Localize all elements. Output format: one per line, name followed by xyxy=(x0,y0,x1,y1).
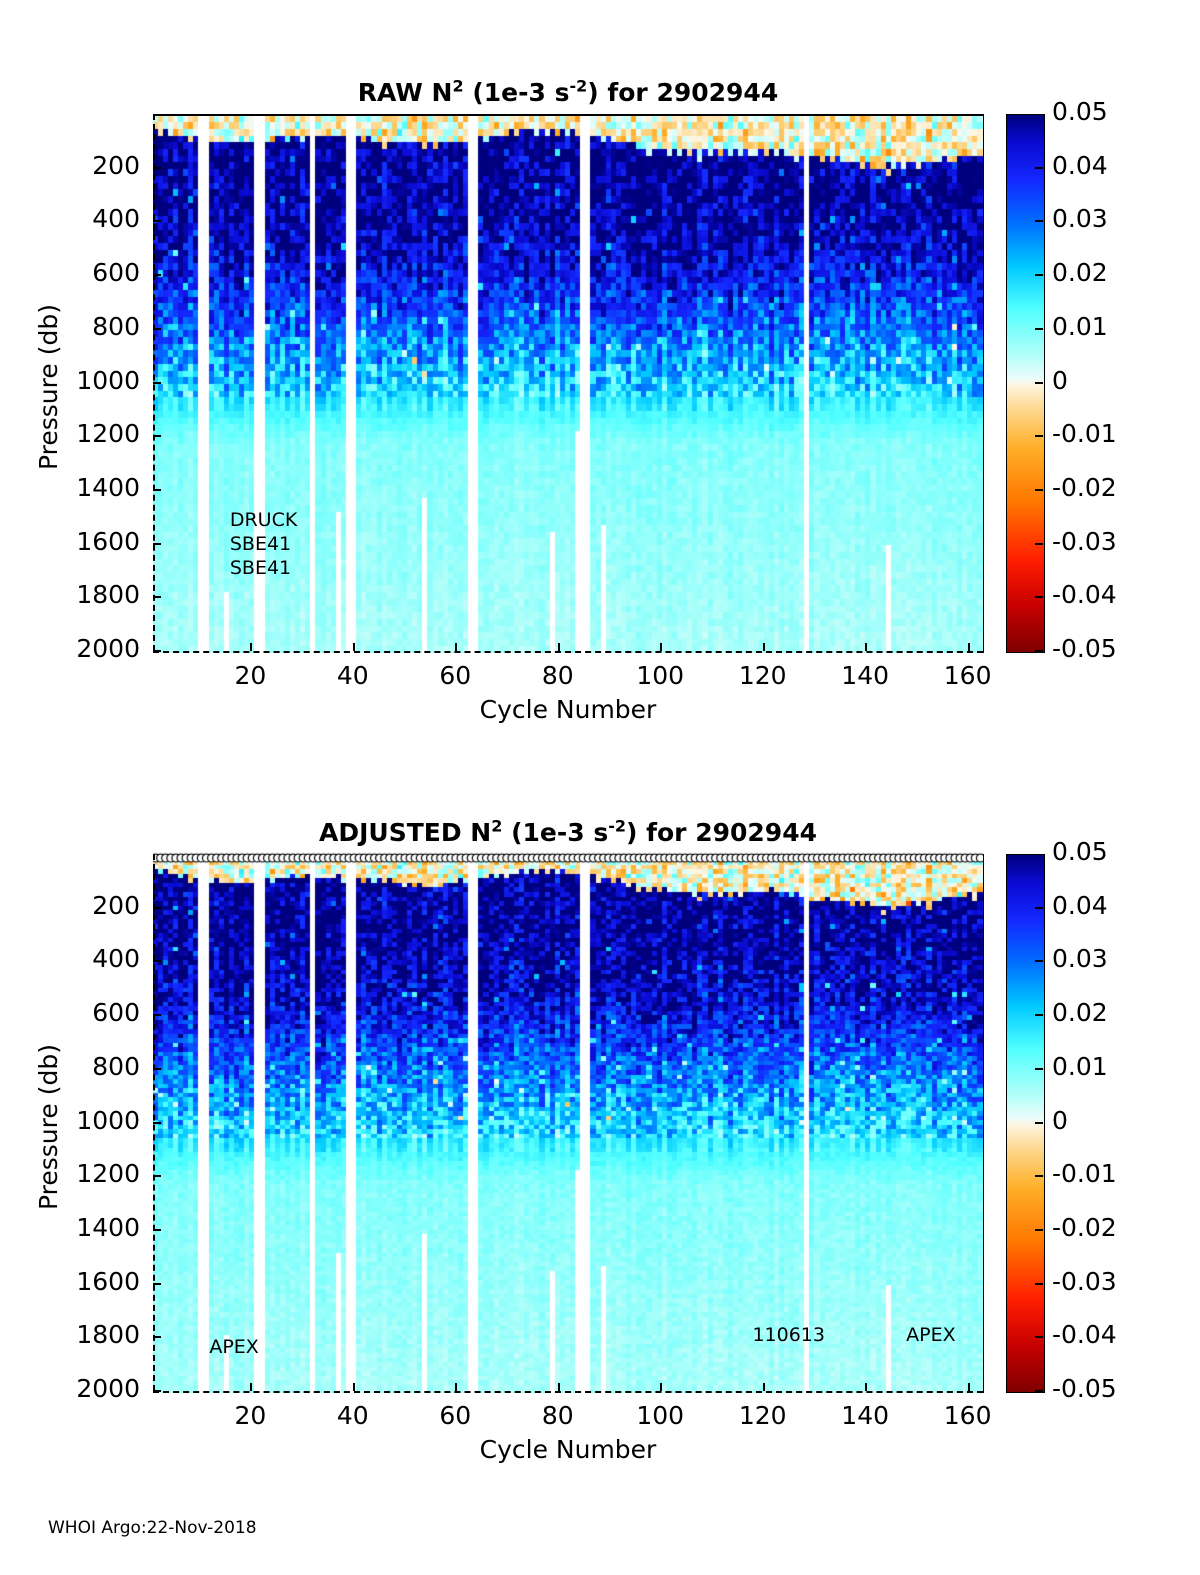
x-tick-label: 120 xyxy=(718,661,808,690)
y-tick-mark xyxy=(153,960,161,962)
y-tick-mark xyxy=(153,167,161,169)
y-tick-label: 200 xyxy=(50,891,140,920)
sbe41-label-1: SBE41 xyxy=(230,533,291,555)
y-tick-mark xyxy=(153,328,161,330)
x-tick-label: 160 xyxy=(923,1401,1013,1430)
x-tick-mark xyxy=(763,643,765,651)
x-tick-mark xyxy=(250,1383,252,1391)
adjusted-title-suffix: ) for 2902944 xyxy=(626,818,817,847)
raw-colorbar[interactable] xyxy=(1006,114,1045,653)
colorbar-tick-mark xyxy=(1035,1229,1043,1231)
y-tick-label: 1400 xyxy=(50,1213,140,1242)
x-tick-label: 100 xyxy=(615,1401,705,1430)
colorbar-tick-label: 0 xyxy=(1052,366,1068,395)
colorbar-tick-label: -0.01 xyxy=(1052,419,1117,448)
raw-x-axis-label: Cycle Number xyxy=(153,695,983,724)
y-tick-label: 1800 xyxy=(50,1320,140,1349)
druck-label: DRUCK xyxy=(230,509,297,531)
x-tick-label: 160 xyxy=(923,661,1013,690)
colorbar-tick-label: 0.01 xyxy=(1052,1052,1108,1081)
adjusted-heatmap-axes[interactable] xyxy=(153,854,984,1393)
colorbar-tick-mark xyxy=(1035,1014,1043,1016)
adjusted-title-sup2: -2 xyxy=(608,817,626,836)
adjusted-plot-title: ADJUSTED N2 (1e-3 s-2) for 2902944 xyxy=(153,818,983,847)
colorbar-tick-mark xyxy=(1035,1175,1043,1177)
y-tick-mark xyxy=(153,489,161,491)
raw-title-mid: (1e-3 s xyxy=(464,78,570,107)
panel-adjusted: ADJUSTED N2 (1e-3 s-2) for 2902944 Press… xyxy=(0,740,1200,1520)
y-tick-mark xyxy=(153,1229,161,1231)
raw-plot-title: RAW N2 (1e-3 s-2) for 2902944 xyxy=(153,78,983,107)
y-tick-mark xyxy=(153,435,161,437)
y-tick-label: 800 xyxy=(50,1052,140,1081)
colorbar-tick-label: 0.02 xyxy=(1052,998,1108,1027)
adjusted-axis-bottom xyxy=(153,1391,983,1393)
x-tick-label: 120 xyxy=(718,1401,808,1430)
y-tick-mark xyxy=(153,650,161,652)
colorbar-tick-mark xyxy=(1035,1122,1043,1124)
y-tick-label: 1200 xyxy=(50,1159,140,1188)
x-tick-mark xyxy=(558,643,560,651)
colorbar-tick-mark xyxy=(1035,1283,1043,1285)
colorbar-tick-label: -0.04 xyxy=(1052,1320,1117,1349)
panel-raw: RAW N2 (1e-3 s-2) for 2902944 Pressure (… xyxy=(0,0,1200,780)
colorbar-tick-label: -0.03 xyxy=(1052,1267,1117,1296)
y-tick-mark xyxy=(153,1014,161,1016)
y-tick-label: 2000 xyxy=(50,634,140,663)
x-tick-label: 40 xyxy=(308,661,398,690)
y-tick-label: 200 xyxy=(50,151,140,180)
x-tick-label: 140 xyxy=(820,1401,910,1430)
y-tick-mark xyxy=(153,1068,161,1070)
y-tick-label: 600 xyxy=(50,258,140,287)
raw-axis-bottom xyxy=(153,651,983,653)
adjusted-title-mid: (1e-3 s xyxy=(502,818,608,847)
colorbar-tick-label: 0.05 xyxy=(1052,837,1108,866)
sbe41-label-2: SBE41 xyxy=(230,557,291,579)
colorbar-tick-label: -0.02 xyxy=(1052,1213,1117,1242)
colorbar-tick-mark xyxy=(1035,960,1043,962)
y-tick-mark xyxy=(153,1336,161,1338)
colorbar-tick-mark xyxy=(1035,382,1043,384)
y-tick-mark xyxy=(153,220,161,222)
colorbar-tick-label: -0.02 xyxy=(1052,473,1117,502)
adjusted-title-sup1: 2 xyxy=(491,817,502,836)
y-tick-label: 1000 xyxy=(50,1106,140,1135)
colorbar-tick-label: -0.03 xyxy=(1052,527,1117,556)
colorbar-tick-label: 0 xyxy=(1052,1106,1068,1135)
y-tick-mark xyxy=(153,1390,161,1392)
colorbar-tick-mark xyxy=(1035,489,1043,491)
colorbar-tick-label: -0.05 xyxy=(1052,1374,1117,1403)
apex-label-right: APEX xyxy=(906,1324,955,1346)
y-tick-mark xyxy=(153,1283,161,1285)
x-tick-mark xyxy=(353,1383,355,1391)
colorbar-tick-label: 0.03 xyxy=(1052,944,1108,973)
x-tick-label: 40 xyxy=(308,1401,398,1430)
raw-title-suffix: ) for 2902944 xyxy=(587,78,778,107)
y-tick-label: 600 xyxy=(50,998,140,1027)
x-tick-label: 80 xyxy=(513,1401,603,1430)
x-tick-label: 140 xyxy=(820,661,910,690)
y-tick-mark xyxy=(153,596,161,598)
colorbar-tick-label: 0.04 xyxy=(1052,151,1108,180)
x-tick-mark xyxy=(558,1383,560,1391)
colorbar-tick-mark xyxy=(1035,328,1043,330)
x-tick-label: 20 xyxy=(205,661,295,690)
x-tick-mark xyxy=(353,643,355,651)
x-tick-label: 80 xyxy=(513,661,603,690)
colorbar-tick-label: -0.04 xyxy=(1052,580,1117,609)
y-tick-label: 1000 xyxy=(50,366,140,395)
x-tick-mark xyxy=(865,1383,867,1391)
colorbar-tick-label: 0.04 xyxy=(1052,891,1108,920)
colorbar-tick-mark xyxy=(1035,907,1043,909)
x-tick-label: 100 xyxy=(615,661,705,690)
x-tick-mark xyxy=(968,643,970,651)
x-tick-mark xyxy=(763,1383,765,1391)
y-tick-label: 1800 xyxy=(50,580,140,609)
x-tick-mark xyxy=(455,1383,457,1391)
y-tick-mark xyxy=(153,907,161,909)
x-tick-label: 60 xyxy=(410,1401,500,1430)
y-tick-label: 400 xyxy=(50,204,140,233)
y-tick-label: 400 xyxy=(50,944,140,973)
colorbar-tick-mark xyxy=(1035,1336,1043,1338)
footer-credit: WHOI Argo:22-Nov-2018 xyxy=(48,1518,257,1538)
apex-label-left: APEX xyxy=(209,1336,258,1358)
x-tick-mark xyxy=(865,643,867,651)
y-tick-mark xyxy=(153,274,161,276)
y-tick-mark xyxy=(153,1122,161,1124)
colorbar-tick-mark xyxy=(1035,435,1043,437)
adjusted-cycle-marker-row xyxy=(153,851,983,865)
colorbar-tick-mark xyxy=(1035,543,1043,545)
colorbar-tick-label: 0.02 xyxy=(1052,258,1108,287)
x-tick-mark xyxy=(660,1383,662,1391)
wmo-id-label: 110613 xyxy=(752,1324,825,1346)
colorbar-tick-mark xyxy=(1035,596,1043,598)
colorbar-tick-mark xyxy=(1035,274,1043,276)
y-tick-mark xyxy=(153,543,161,545)
y-tick-label: 1400 xyxy=(50,473,140,502)
raw-title-sup1: 2 xyxy=(452,77,463,96)
colorbar-tick-mark xyxy=(1035,1390,1043,1392)
y-tick-label: 2000 xyxy=(50,1374,140,1403)
x-tick-mark xyxy=(455,643,457,651)
adjusted-title-prefix: ADJUSTED N xyxy=(319,818,491,847)
y-tick-mark xyxy=(153,382,161,384)
adjusted-colorbar[interactable] xyxy=(1006,854,1045,1393)
x-tick-label: 20 xyxy=(205,1401,295,1430)
colorbar-tick-mark xyxy=(1035,650,1043,652)
colorbar-tick-label: 0.05 xyxy=(1052,97,1108,126)
raw-title-sup2: -2 xyxy=(569,77,587,96)
colorbar-tick-mark xyxy=(1035,1068,1043,1070)
colorbar-tick-label: 0.01 xyxy=(1052,312,1108,341)
x-tick-label: 60 xyxy=(410,661,500,690)
colorbar-tick-label: 0.03 xyxy=(1052,204,1108,233)
colorbar-tick-label: -0.01 xyxy=(1052,1159,1117,1188)
colorbar-tick-mark xyxy=(1035,220,1043,222)
colorbar-tick-label: -0.05 xyxy=(1052,634,1117,663)
raw-title-prefix: RAW N xyxy=(358,78,453,107)
y-tick-label: 1600 xyxy=(50,527,140,556)
x-tick-mark xyxy=(968,1383,970,1391)
y-tick-label: 800 xyxy=(50,312,140,341)
y-tick-label: 1600 xyxy=(50,1267,140,1296)
y-tick-mark xyxy=(153,1175,161,1177)
y-tick-label: 1200 xyxy=(50,419,140,448)
adjusted-x-axis-label: Cycle Number xyxy=(153,1435,983,1464)
colorbar-tick-mark xyxy=(1035,167,1043,169)
x-tick-mark xyxy=(660,643,662,651)
x-tick-mark xyxy=(250,643,252,651)
